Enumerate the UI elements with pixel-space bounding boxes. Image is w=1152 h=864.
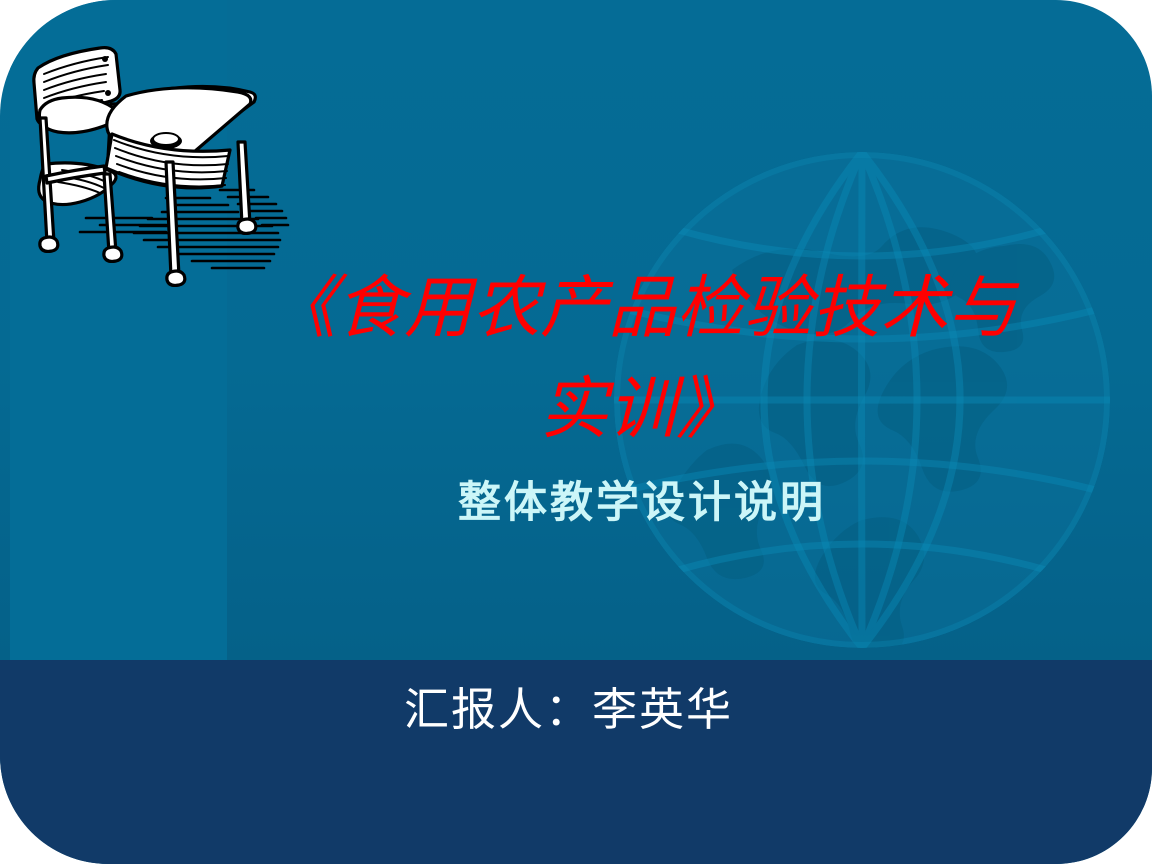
presenter-block: 汇报人：李英华 [404,683,1044,737]
slide-body: 《食用农产品检验技术与实训》 整体教学设计说明 汇报人：李英华 [0,0,1152,864]
school-desk-icon [16,22,306,290]
presenter-name: 汇报人：李英华 [404,683,1044,737]
page-title: 《食用农产品检验技术与实训》 [236,258,1048,459]
page-subtitle: 整体教学设计说明 [236,478,1048,530]
presentation-slide: 《食用农产品检验技术与实训》 整体教学设计说明 汇报人：李英华 [0,0,1152,864]
subtitle-block: 整体教学设计说明 [236,478,1048,530]
title-block: 《食用农产品检验技术与实训》 [236,258,1048,459]
